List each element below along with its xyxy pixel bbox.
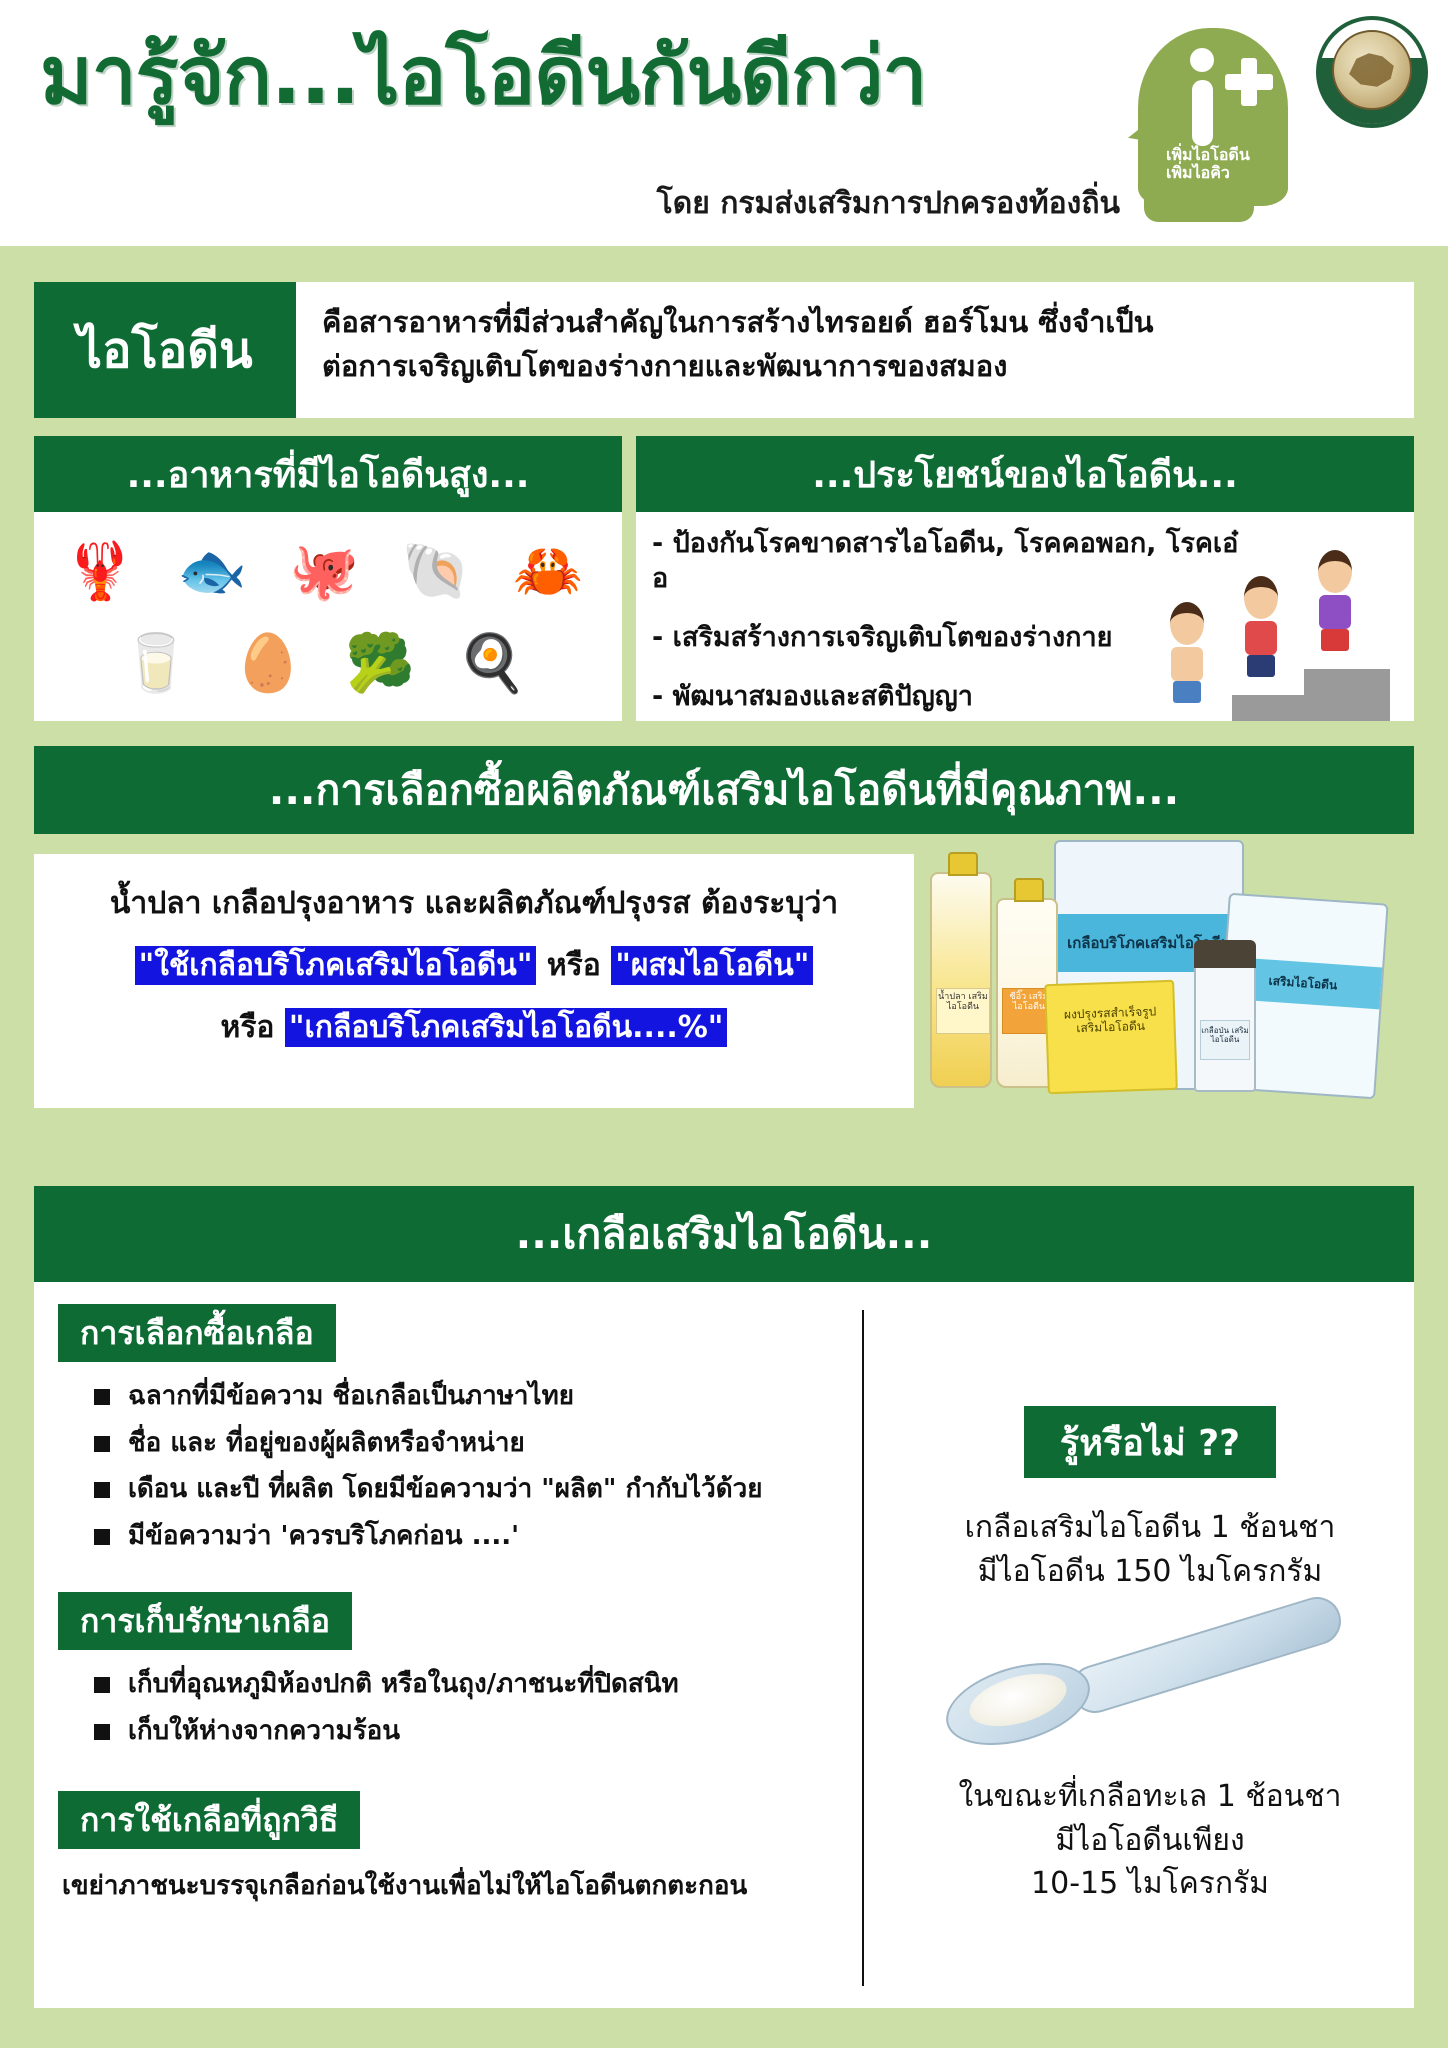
product-choice-panel: น้ำปลา เกลือปรุงอาหาร และผลิตภัณฑ์ปรุงรส…: [34, 854, 914, 1108]
iodine-products-photo: เกลือบริโภคเสริมไอโอดีน เสริมไอโอดีน น้ำ…: [922, 832, 1402, 1122]
salt-shaker: เกลือป่น เสริมไอโอดีน: [1194, 964, 1256, 1092]
bullet-square-icon: [94, 1482, 110, 1498]
list-item: เก็บที่อุณหภูมิห้องปกติ หรือในถุง/ภาชนะท…: [58, 1668, 848, 1701]
storage-salt-title: การเก็บรักษาเกลือ: [58, 1592, 352, 1650]
product-choice-line-2: "ใช้เกลือบริโภคเสริมไอโอดีน" หรือ "ผสมไอ…: [34, 942, 914, 989]
did-you-know-top-text: เกลือเสริมไอโอดีน 1 ช้อนชา มีไอโอดีน 150…: [900, 1506, 1400, 1593]
children-growth-illustration: [1154, 571, 1404, 721]
definition-text: คือสารอาหารที่มีส่วนสำคัญในการสร้างไทรอย…: [296, 282, 1414, 418]
benefits-body: - ป้องกันโรคขาดสารไอโอดีน, โรคคอพอก, โรค…: [636, 512, 1414, 721]
spoon-handle: [1065, 1591, 1347, 1719]
head-brain-iodine-icon: เพิ่มไอโอดีน เพิ่มไอคิว: [1128, 22, 1308, 222]
child-baby: [1170, 602, 1204, 703]
product-choice-conjunction: หรือ: [547, 948, 601, 983]
did-you-know-bottom-text: ในขณะที่เกลือทะเล 1 ช้อนชา มีไอโอดีนเพีย…: [900, 1775, 1400, 1906]
product-choice-heading: ...การเลือกซื้อผลิตภัณฑ์เสริมไอโอดีนที่ม…: [34, 746, 1414, 834]
definition-label: ไอโอดีน: [34, 282, 296, 418]
seasoning-packet-label: ผงปรุงรสสำเร็จรูป เสริมไอโอดีน: [1046, 982, 1174, 1037]
list-item-label: เก็บที่อุณหภูมิห้องปกติ หรือในถุง/ภาชนะท…: [128, 1668, 679, 1701]
list-item: มีข้อความว่า 'ควรบริโภคก่อน ....': [58, 1520, 848, 1553]
list-item: เดือน และปี ที่ผลิต โดยมีข้อความว่า "ผลิ…: [58, 1473, 848, 1506]
logo-tagline-line2: เพิ่มไอคิว: [1166, 164, 1286, 182]
fish-sauce-bottle: น้ำปลา เสริมไอโอดีน: [930, 872, 992, 1088]
crab-icon: 🦀: [492, 526, 604, 618]
bottle-cap: [1014, 878, 1044, 902]
did-you-know-badge: รู้หรือไม่ ??: [1024, 1406, 1276, 1478]
foods-body: 🦞 🐟 🐙 🐚 🦀 🥛 🥚 🥦 🍳: [34, 512, 622, 721]
plus-icon-vertical: [1241, 58, 1257, 106]
did-you-know-line-2: มีไอโอดีน 150 ไมโครกรัม: [900, 1550, 1400, 1594]
milk-bottle-icon: 🥛: [100, 618, 212, 710]
scallop-shell-icon: 🐚: [380, 526, 492, 618]
bottle-label: น้ำปลา เสริมไอโอดีน: [936, 988, 990, 1034]
product-choice-line-3: หรือ "เกลือบริโภคเสริมไอโอดีน....%": [34, 1004, 914, 1051]
letter-i-dot: [1190, 48, 1214, 72]
foods-grid: 🦞 🐟 🐙 🐚 🦀 🥛 🥚 🥦 🍳: [44, 526, 612, 710]
fish-icon: 🐟: [156, 526, 268, 618]
foods-heading: ...อาหารที่มีไอโอดีนสูง...: [34, 436, 622, 512]
benefits-panel: ...ประโยชน์ของไอโอดีน... - ป้องกันโรคขาด…: [636, 436, 1414, 721]
product-choice-conjunction-2: หรือ: [221, 1010, 275, 1045]
letter-i-stem: [1192, 80, 1213, 146]
definition-line-1: คือสารอาหารที่มีส่วนสำคัญในการสร้างไทรอย…: [322, 300, 1388, 344]
content-board: ไอโอดีน คือสารอาหารที่มีส่วนสำคัญในการสร…: [0, 246, 1448, 2048]
list-item-label: มีข้อความว่า 'ควรบริโภคก่อน ....': [128, 1520, 519, 1553]
foods-row-1: 🦞 🐟 🐙 🐚 🦀: [44, 526, 612, 618]
definition-line-2: ต่อการเจริญเติบโตของร่างกายและพัฒนาการขอ…: [322, 344, 1388, 388]
salt-left-column: การเลือกซื้อเกลือ ฉลากที่มีข้อความ ชื่อเ…: [58, 1304, 848, 1906]
salt-section-divider: [862, 1310, 864, 1986]
highlight-phrase-b: "ผสมไอโอดีน": [611, 946, 813, 985]
lobster-icon: 🦞: [44, 526, 156, 618]
list-item-label: เดือน และปี ที่ผลิต โดยมีข้อความว่า "ผลิ…: [128, 1473, 762, 1506]
usage-salt-title: การใช้เกลือที่ถูกวิธี: [58, 1791, 360, 1849]
step-block-2: [1304, 669, 1390, 721]
logo-tagline: เพิ่มไอโอดีน เพิ่มไอคิว: [1166, 146, 1286, 183]
list-item-label: ฉลากที่มีข้อความ ชื่อเกลือเป็นภาษาไทย: [128, 1380, 574, 1413]
did-you-know-line-3: ในขณะที่เกลือทะเล 1 ช้อนชา: [900, 1775, 1400, 1819]
foods-row-2: 🥛 🥚 🥦 🍳: [44, 618, 612, 710]
did-you-know-column: รู้หรือไม่ ?? เกลือเสริมไอโอดีน 1 ช้อนชา…: [900, 1406, 1400, 1906]
list-item-label: ชื่อ และ ที่อยู่ของผู้ผลิตหรือจำหน่าย: [128, 1427, 525, 1460]
ministry-seal-icon: [1316, 16, 1428, 128]
infographic-page: มารู้จัก...ไอโอดีนกันดีกว่า โดย กรมส่งเส…: [0, 0, 1448, 2048]
teaspoon-salt-icon: [940, 1615, 1360, 1765]
page-title: มารู้จัก...ไอโอดีนกันดีกว่า: [40, 36, 1100, 116]
salt-shaker-label: เกลือป่น เสริมไอโอดีน: [1200, 1020, 1250, 1060]
seasoning-packet: ผงปรุงรสสำเร็จรูป เสริมไอโอดีน: [1044, 980, 1178, 1094]
list-item-label: เก็บให้ห่างจากความร้อน: [128, 1715, 400, 1748]
list-item: ชื่อ และ ที่อยู่ของผู้ผลิตหรือจำหน่าย: [58, 1427, 848, 1460]
did-you-know-line-1: เกลือเสริมไอโอดีน 1 ช้อนชา: [900, 1506, 1400, 1550]
did-you-know-line-4: มีไอโอดีนเพียง: [900, 1819, 1400, 1863]
salt-shaker-cap: [1194, 940, 1256, 968]
green-vegetable-icon: 🥦: [324, 618, 436, 710]
bullet-square-icon: [94, 1436, 110, 1452]
list-item: เก็บให้ห่างจากความร้อน: [58, 1715, 848, 1748]
logo-tagline-line1: เพิ่มไอโอดีน: [1166, 146, 1286, 164]
definition-row: ไอโอดีน คือสารอาหารที่มีส่วนสำคัญในการสร…: [34, 282, 1414, 418]
bullet-square-icon: [94, 1389, 110, 1405]
bullet-square-icon: [94, 1677, 110, 1693]
page-byline: โดย กรมส่งเสริมการปกครองท้องถิ่น: [40, 180, 1120, 227]
highlight-phrase-a: "ใช้เกลือบริโภคเสริมไอโอดีน": [135, 946, 537, 985]
salt-section-heading: ...เกลือเสริมไอโอดีน...: [34, 1186, 1414, 1282]
buying-salt-title: การเลือกซื้อเกลือ: [58, 1304, 336, 1362]
eggs-icon: 🥚: [212, 618, 324, 710]
egg-yolk-icon: 🍳: [436, 618, 548, 710]
child-running: [1244, 576, 1278, 677]
list-item: ฉลากที่มีข้อความ ชื่อเกลือเป็นภาษาไทย: [58, 1380, 848, 1413]
page-header: มารู้จัก...ไอโอดีนกันดีกว่า โดย กรมส่งเส…: [0, 0, 1448, 246]
highlight-phrase-c: "เกลือบริโภคเสริมไอโอดีน....%": [285, 1008, 728, 1047]
foods-panel: ...อาหารที่มีไอโอดีนสูง... 🦞 🐟 🐙 🐚 🦀 🥛 🥚…: [34, 436, 622, 721]
child-reading: [1318, 550, 1352, 651]
bottle-cap: [948, 852, 978, 876]
bullet-square-icon: [94, 1724, 110, 1740]
octopus-icon: 🐙: [268, 526, 380, 618]
usage-salt-text: เขย่าภาชนะบรรจุเกลือก่อนใช้งานเพื่อไม่ให…: [62, 1865, 848, 1906]
bullet-square-icon: [94, 1529, 110, 1545]
product-choice-line-1: น้ำปลา เกลือปรุงอาหาร และผลิตภัณฑ์ปรุงรส…: [34, 880, 914, 927]
buying-salt-list: ฉลากที่มีข้อความ ชื่อเกลือเป็นภาษาไทย ชื…: [58, 1380, 848, 1552]
benefits-heading: ...ประโยชน์ของไอโอดีน...: [636, 436, 1414, 512]
did-you-know-line-5: 10-15 ไมโครกรัม: [900, 1862, 1400, 1906]
storage-salt-list: เก็บที่อุณหภูมิห้องปกติ หรือในถุง/ภาชนะท…: [58, 1668, 848, 1747]
